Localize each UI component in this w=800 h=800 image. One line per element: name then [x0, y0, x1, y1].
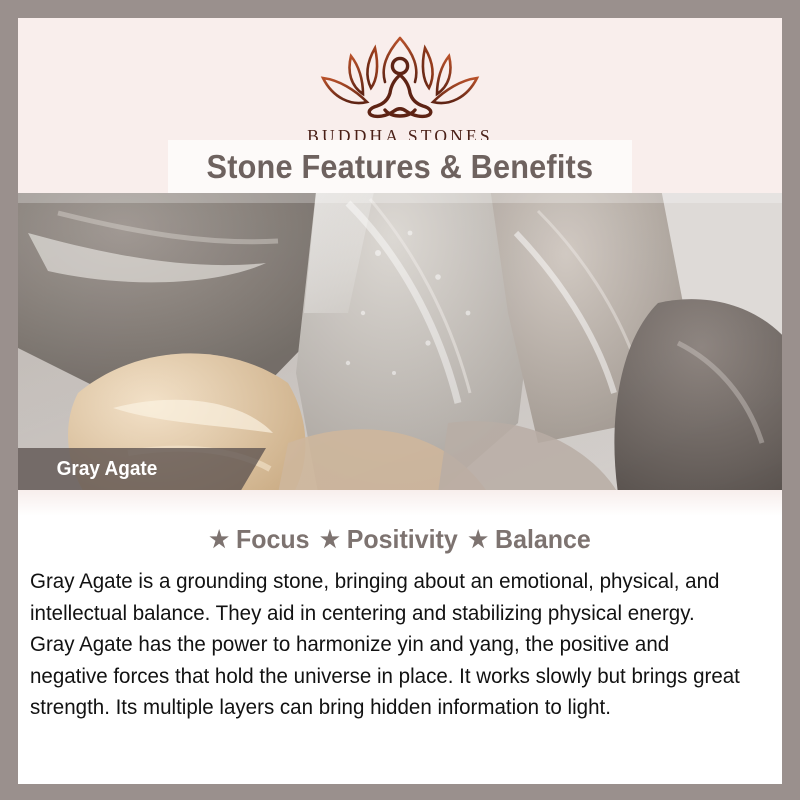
lotus-meditation-icon	[315, 30, 485, 122]
stone-name-badge: Gray Agate	[18, 448, 266, 490]
keyword-balance: ★ Balance	[468, 524, 590, 555]
page-title-plaque: Stone Features & Benefits	[168, 140, 632, 193]
star-icon: ★	[209, 526, 229, 552]
description-section: ★ Focus ★ Positivity ★ Balance Gray Agat…	[18, 490, 782, 784]
stone-photo-image	[18, 193, 782, 490]
star-icon: ★	[468, 526, 488, 552]
keyword-positivity: ★ Positivity	[320, 524, 458, 555]
description-body: Gray Agate is a grounding stone, bringin…	[30, 566, 741, 724]
header-section: BUDDHA STONES Stone Features & Benefits	[18, 18, 782, 193]
keyword-list: ★ Focus ★ Positivity ★ Balance	[33, 524, 766, 555]
star-icon: ★	[320, 526, 340, 552]
page-title: Stone Features & Benefits	[207, 148, 594, 186]
brand-logo: BUDDHA STONES	[18, 30, 782, 147]
keyword-label: Focus	[236, 524, 310, 554]
stone-photo: Gray Agate	[18, 193, 782, 490]
description-fade	[18, 490, 782, 516]
stone-name-label: Gray Agate	[57, 458, 158, 481]
card-inner: BUDDHA STONES Stone Features & Benefits	[18, 18, 782, 784]
keyword-label: Positivity	[347, 524, 458, 554]
outer-frame: BUDDHA STONES Stone Features & Benefits	[0, 0, 800, 800]
keyword-focus: ★ Focus	[209, 524, 309, 555]
keyword-label: Balance	[495, 524, 591, 554]
